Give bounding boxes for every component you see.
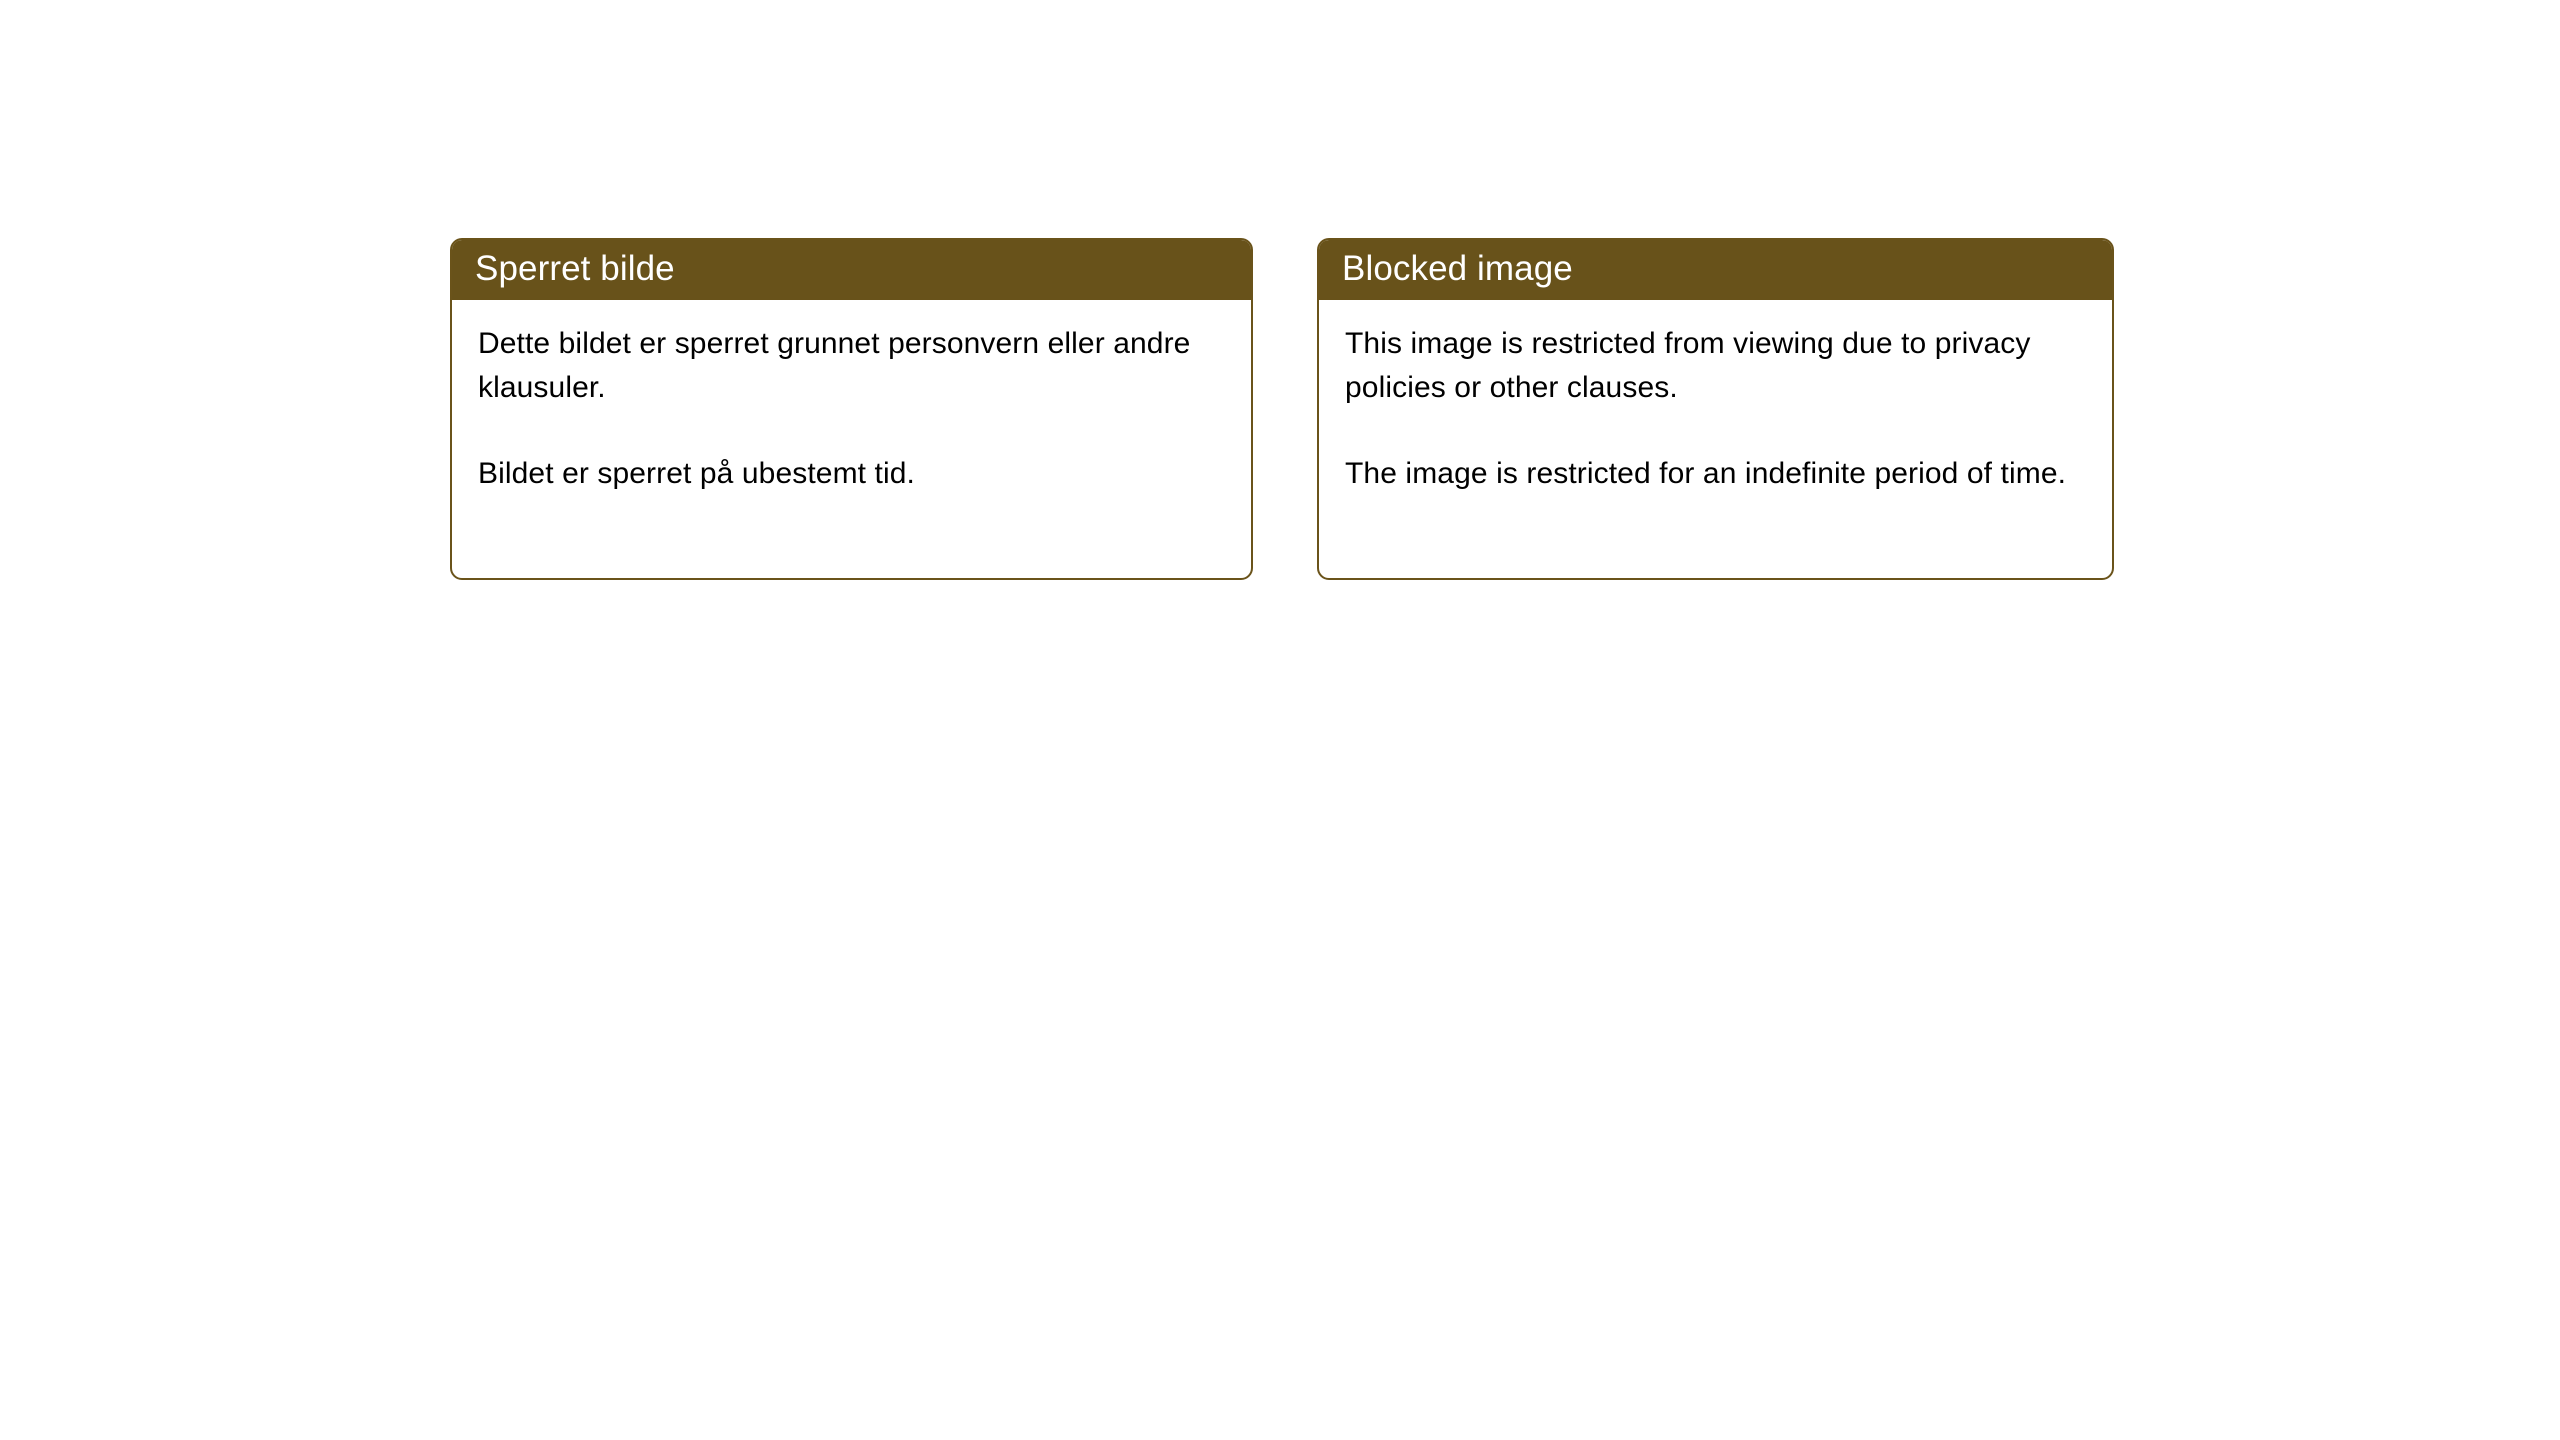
card-paragraph-reason-norwegian: Dette bildet er sperret grunnet personve… [478,322,1213,410]
card-header-english: Blocked image [1317,238,2114,300]
card-paragraph-duration-english: The image is restricted for an indefinit… [1345,452,2085,496]
card-title-english: Blocked image [1342,250,1573,288]
card-paragraph-duration-norwegian: Bildet er sperret på ubestemt tid. [478,452,1213,496]
card-body-norwegian: Dette bildet er sperret grunnet personve… [452,300,1251,496]
blocked-image-card-english: Blocked image This image is restricted f… [1317,238,2114,580]
paragraph-spacer [1345,410,2088,452]
card-body-english: This image is restricted from viewing du… [1319,300,2112,496]
blocked-image-card-norwegian: Sperret bilde Dette bildet er sperret gr… [450,238,1253,580]
card-title-norwegian: Sperret bilde [475,250,675,288]
blocked-image-notice-area: Sperret bilde Dette bildet er sperret gr… [0,0,2560,1440]
card-header-norwegian: Sperret bilde [450,238,1253,300]
card-paragraph-reason-english: This image is restricted from viewing du… [1345,322,2085,410]
paragraph-spacer [478,410,1227,452]
